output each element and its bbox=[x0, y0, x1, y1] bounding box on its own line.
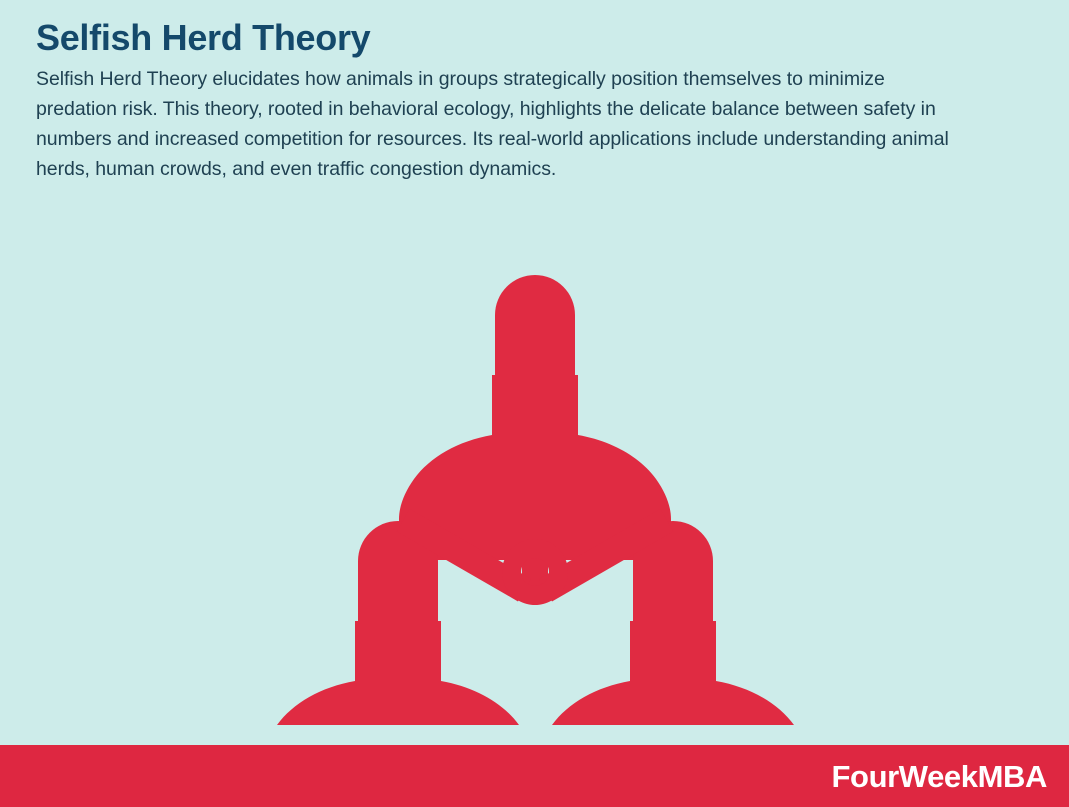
illustration-three-people-hub bbox=[0, 255, 1069, 725]
footer-bar: FourWeekMBA bbox=[0, 745, 1069, 807]
header-text-block: Selfish Herd Theory Selfish Herd Theory … bbox=[36, 16, 996, 184]
page-title: Selfish Herd Theory bbox=[36, 16, 996, 60]
brand-logo-text: FourWeekMBA bbox=[832, 761, 1069, 792]
slide-canvas: Selfish Herd Theory Selfish Herd Theory … bbox=[0, 0, 1069, 807]
page-description: Selfish Herd Theory elucidates how anima… bbox=[36, 60, 961, 184]
